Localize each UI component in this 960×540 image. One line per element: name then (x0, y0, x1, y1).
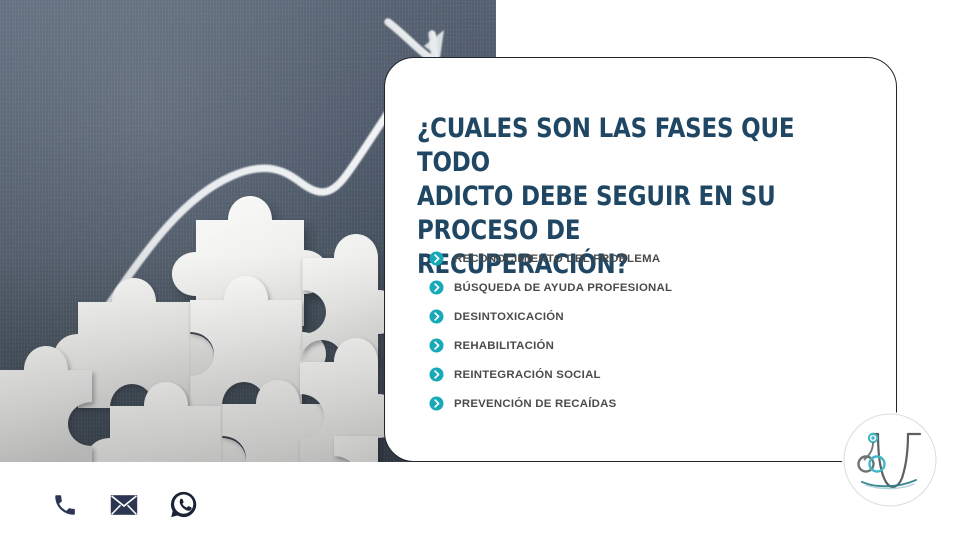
envelope-icon[interactable] (110, 494, 138, 516)
contact-icon-row (52, 491, 197, 518)
chevron-right-circle-icon (429, 338, 444, 353)
list-item-label: DESINTOXICACIÓN (454, 311, 564, 323)
chevron-right-circle-icon (429, 309, 444, 324)
list-item-label: REINTEGRACIÓN SOCIAL (454, 369, 601, 381)
chevron-right-circle-icon (429, 396, 444, 411)
recovery-phase-list: RECONOCIMIENTO DEL PROBLEMA BÚSQUEDA DE … (429, 244, 859, 418)
slide-canvas: ¿CUALES SON LAS FASES QUE TODO ADICTO DE… (0, 0, 960, 540)
chevron-right-circle-icon (429, 367, 444, 382)
question-card: ¿CUALES SON LAS FASES QUE TODO ADICTO DE… (384, 57, 897, 462)
list-item[interactable]: PREVENCIÓN DE RECAÍDAS (429, 389, 859, 418)
list-item-label: RECONOCIMIENTO DEL PROBLEMA (454, 253, 660, 265)
list-item-label: PREVENCIÓN DE RECAÍDAS (454, 398, 616, 410)
whatsapp-icon[interactable] (170, 491, 197, 518)
list-item[interactable]: BÚSQUEDA DE AYUDA PROFESIONAL (429, 273, 859, 302)
list-item-label: BÚSQUEDA DE AYUDA PROFESIONAL (454, 282, 672, 294)
list-item[interactable]: RECONOCIMIENTO DEL PROBLEMA (429, 244, 859, 273)
list-item[interactable]: REHABILITACIÓN (429, 331, 859, 360)
list-item-label: REHABILITACIÓN (454, 340, 554, 352)
chevron-right-circle-icon (429, 280, 444, 295)
phone-icon[interactable] (52, 492, 78, 518)
chevron-right-circle-icon (429, 251, 444, 266)
list-item[interactable]: DESINTOXICACIÓN (429, 302, 859, 331)
brand-logo (842, 412, 938, 508)
list-item[interactable]: REINTEGRACIÓN SOCIAL (429, 360, 859, 389)
